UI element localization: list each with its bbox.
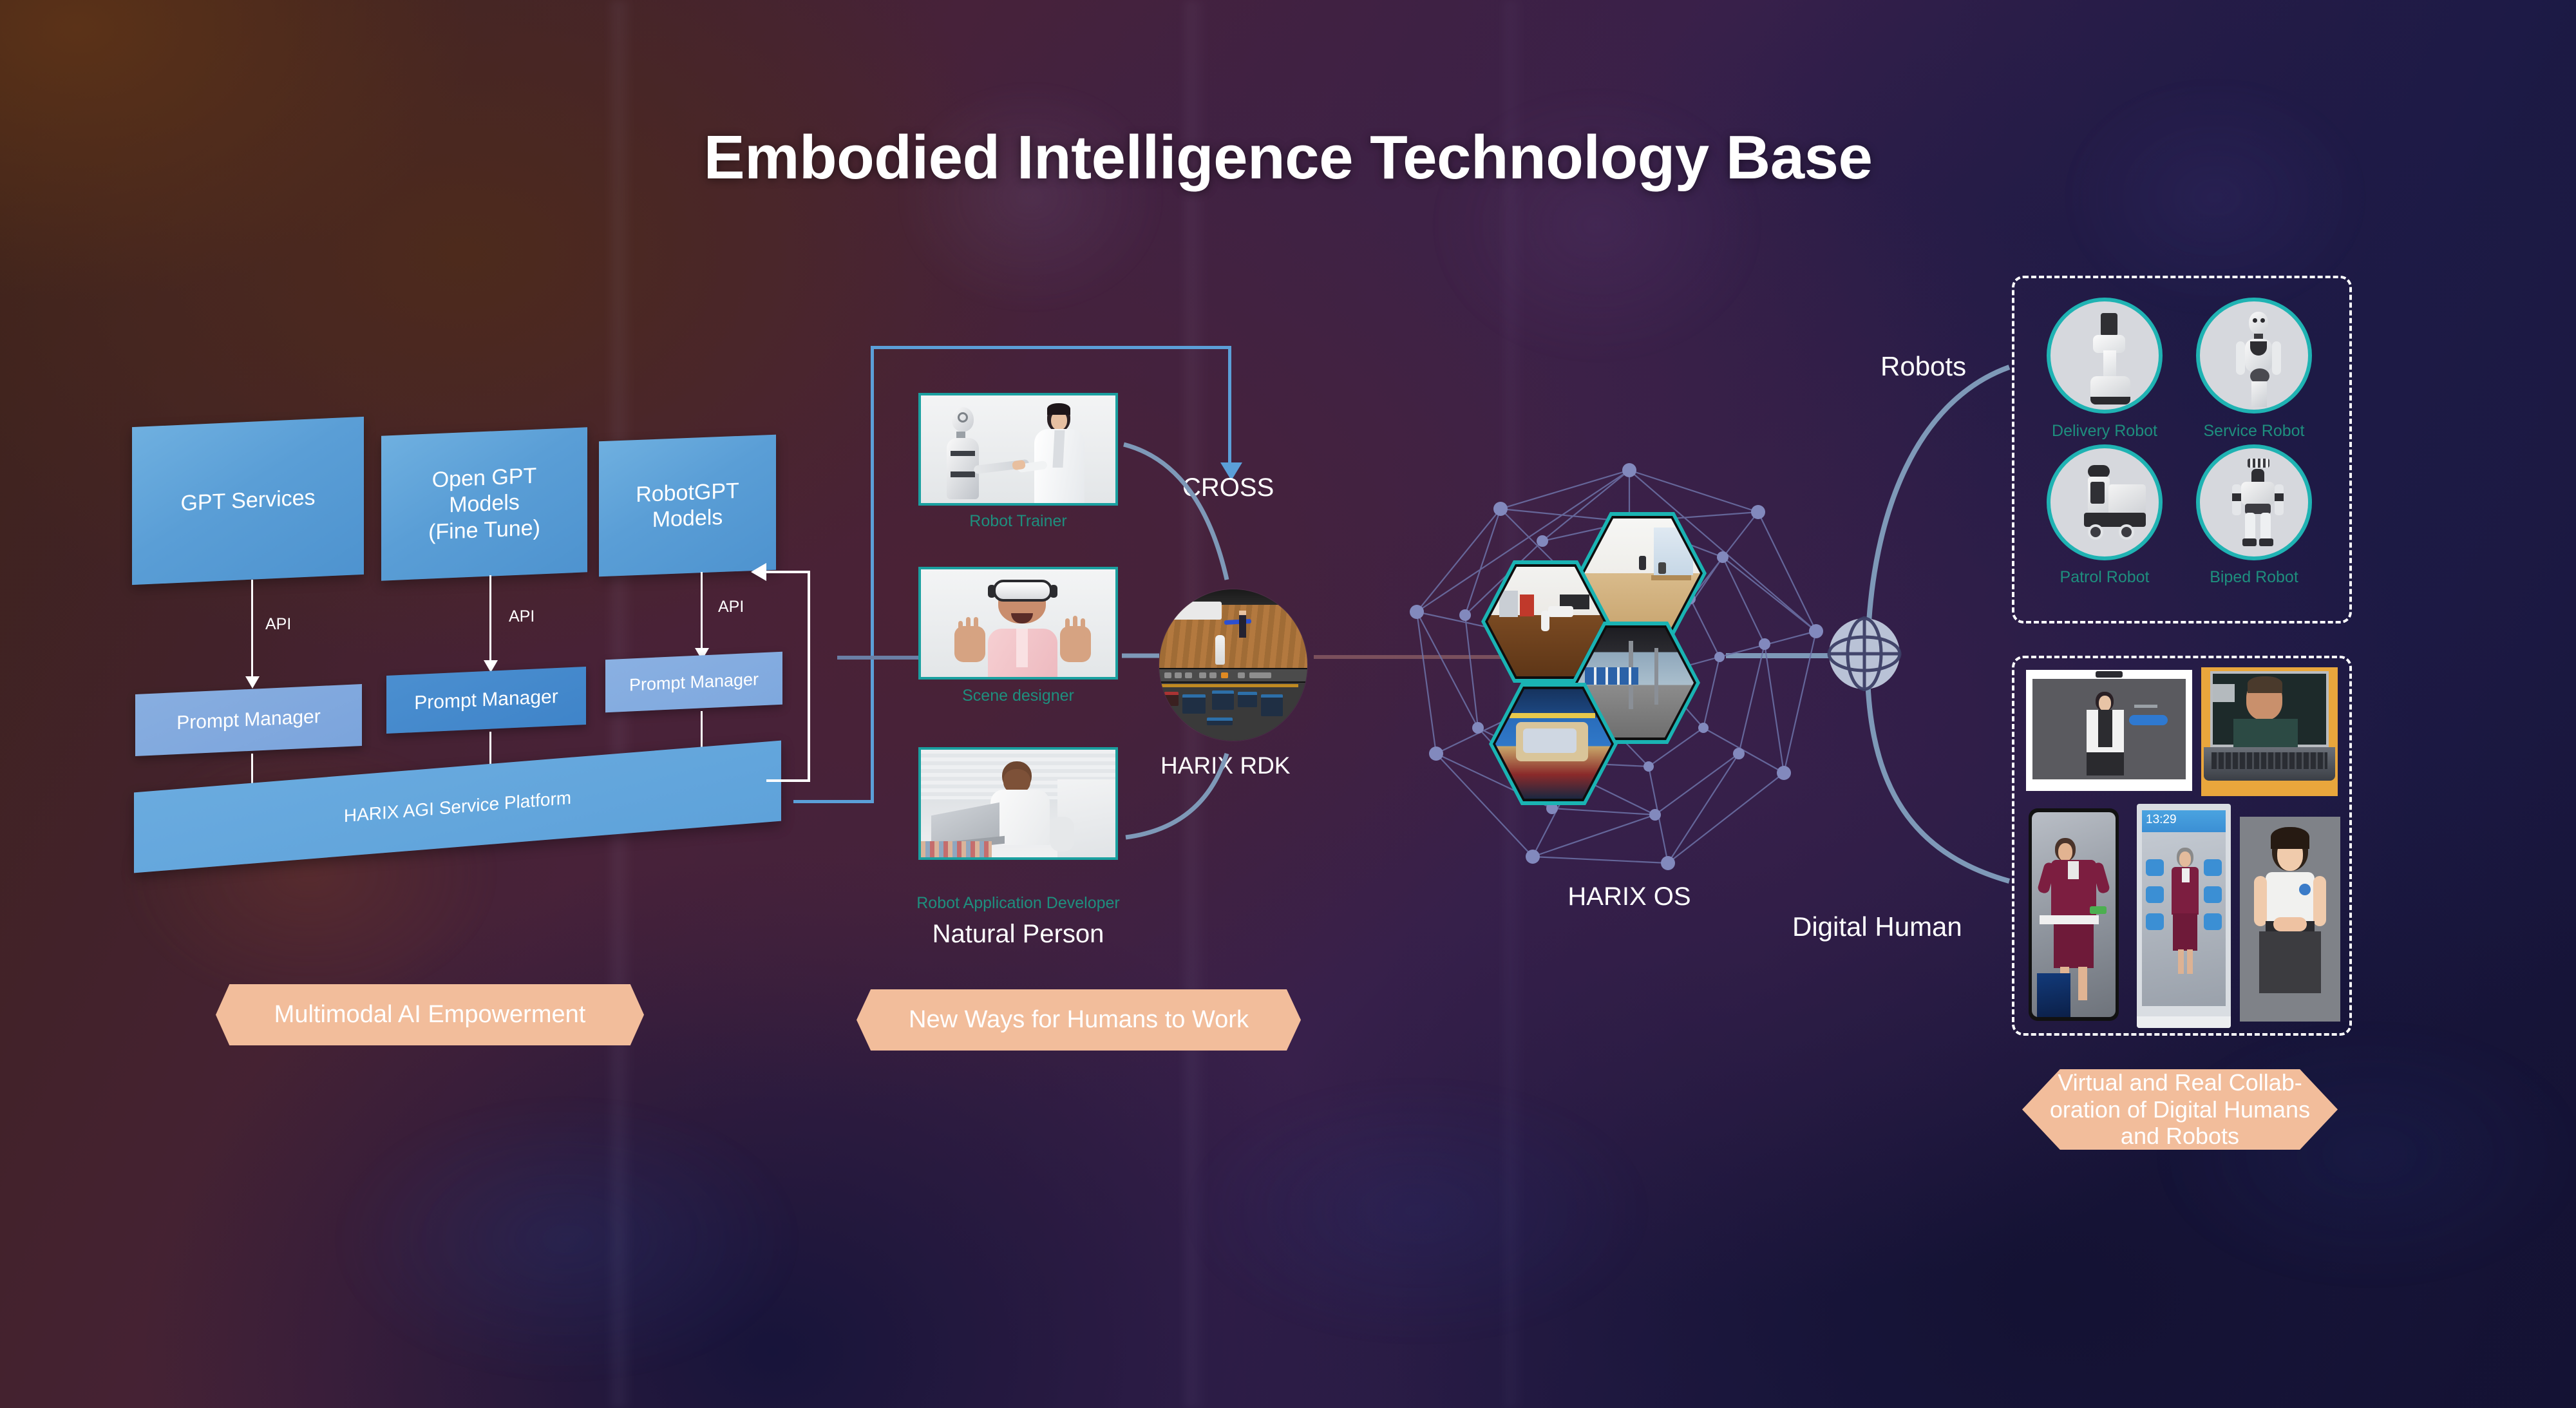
diagram-canvas: Embodied Intelligence Technology Base GP… xyxy=(0,0,2576,1408)
harix-os-label: HARIX OS xyxy=(1501,882,1758,911)
banner-label-3: Virtual and Real Collab-oration of Digit… xyxy=(2036,1069,2324,1150)
digital-human-phone[interactable] xyxy=(2029,808,2119,1021)
digital-human-screen[interactable] xyxy=(2026,670,2192,791)
robot-caption-service: Service Robot xyxy=(2178,422,2330,441)
banner-label-2: New Ways for Humans to Work xyxy=(909,1005,1249,1034)
robot-avatar-biped[interactable] xyxy=(2196,444,2312,560)
digital-human-label: Digital Human xyxy=(1792,911,1962,942)
robot-avatar-service[interactable] xyxy=(2196,298,2312,414)
robot-caption-biped: Biped Robot xyxy=(2178,568,2330,587)
banner-virtual-real-collab: Virtual and Real Collab-oration of Digit… xyxy=(2022,1069,2338,1150)
digital-human-avatar[interactable] xyxy=(2240,817,2340,1022)
banner-label-1: Multimodal AI Empowerment xyxy=(274,1000,586,1029)
robot-avatar-patrol[interactable] xyxy=(2047,444,2163,560)
digital-human-laptop[interactable] xyxy=(2201,667,2338,796)
robots-label: Robots xyxy=(1880,351,1966,382)
banner-new-ways: New Ways for Humans to Work xyxy=(857,989,1301,1051)
digital-human-kiosk[interactable]: 13:29 xyxy=(2137,804,2231,1028)
globe-icon xyxy=(1826,615,1903,692)
robot-avatar-delivery[interactable] xyxy=(2047,298,2163,414)
banner-multimodal-ai: Multimodal AI Empowerment xyxy=(216,984,644,1045)
robot-caption-delivery: Delivery Robot xyxy=(2029,422,2181,441)
robot-caption-patrol: Patrol Robot xyxy=(2029,568,2181,587)
